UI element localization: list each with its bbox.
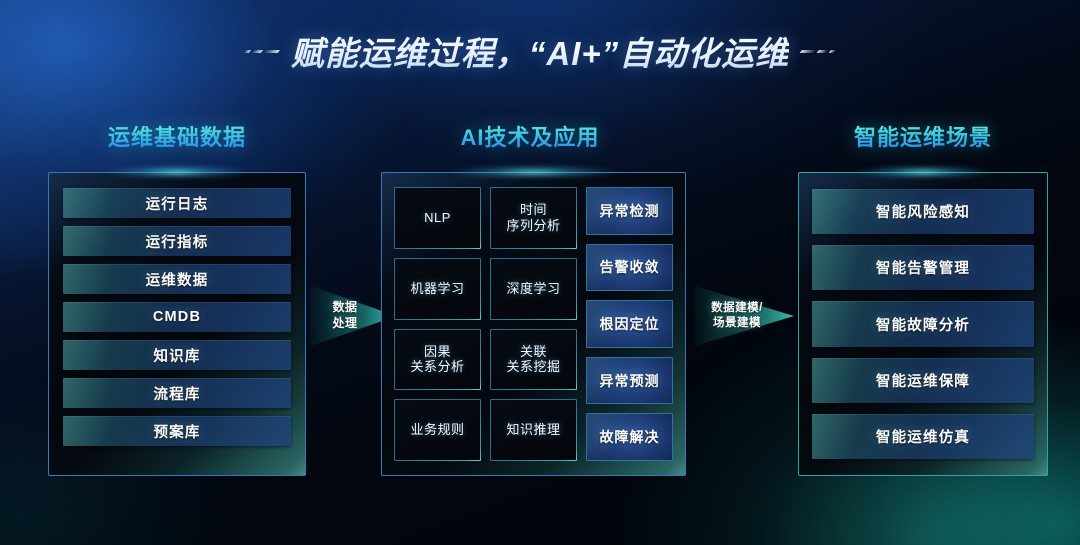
list-item[interactable]: 智能运维保障: [812, 358, 1034, 403]
chip-anomaly-detection[interactable]: 异常检测: [586, 187, 673, 235]
title-left-tick-icon: [245, 50, 279, 53]
list-item[interactable]: CMDB: [63, 302, 291, 332]
tile-label-line2: 关系挖掘: [506, 359, 560, 374]
arrow-connector-data-scene-modeling: 数据建模/ 场景建模: [694, 278, 794, 354]
list-item[interactable]: 预案库: [63, 416, 291, 446]
tile-label-line1: 时间: [520, 202, 547, 217]
connector-label-line2: 处理: [332, 316, 357, 332]
list-item[interactable]: 流程库: [63, 378, 291, 408]
tile-association-mining[interactable]: 关联 关系挖掘: [490, 329, 577, 391]
connector-label-line2: 场景建模: [713, 316, 761, 331]
list-item[interactable]: 智能故障分析: [812, 301, 1034, 346]
chip-fault-resolution[interactable]: 故障解决: [586, 413, 673, 461]
tile-time-series-analysis[interactable]: 时间 序列分析: [490, 187, 577, 249]
ai-application-chip-list: 异常检测 告警收敛 根因定位 异常预测 故障解决: [586, 187, 673, 461]
connector-label-line1: 数据建模/: [711, 301, 763, 316]
list-item[interactable]: 智能告警管理: [812, 245, 1034, 290]
tile-causal-relation-analysis[interactable]: 因果 关系分析: [394, 329, 481, 391]
tile-nlp[interactable]: NLP: [394, 187, 481, 249]
list-item[interactable]: 运维数据: [63, 264, 291, 294]
slide-title-bar: 赋能运维过程，“AI+”自动化运维: [0, 27, 1080, 75]
panel-aiops-scenarios: 智能风险感知 智能告警管理 智能故障分析 智能运维保障 智能运维仿真: [798, 172, 1048, 476]
tile-label-line1: 关联: [520, 344, 547, 359]
aiops-scenario-list: 智能风险感知 智能告警管理 智能故障分析 智能运维保障 智能运维仿真: [799, 173, 1047, 475]
tile-knowledge-reasoning[interactable]: 知识推理: [490, 399, 577, 461]
column-header-left: 运维基础数据: [48, 120, 306, 152]
tile-label: 机器学习: [410, 281, 464, 297]
tile-business-rules[interactable]: 业务规则: [394, 399, 481, 461]
tile-label-line2: 关系分析: [410, 359, 464, 374]
panel-ai-tech-apps: NLP 时间 序列分析 机器学习 深度学习: [381, 172, 686, 476]
tile-machine-learning[interactable]: 机器学习: [394, 258, 481, 320]
tile-label: 深度学习: [506, 281, 560, 297]
ai-tech-tile-grid: NLP 时间 序列分析 机器学习 深度学习: [394, 187, 577, 461]
column-header-middle: AI技术及应用: [380, 120, 680, 152]
tile-label-line2: 序列分析: [506, 218, 560, 233]
connector-label-line1: 数据: [332, 300, 357, 316]
page-title: 赋能运维过程，“AI+”自动化运维: [291, 27, 789, 75]
chip-root-cause-location[interactable]: 根因定位: [586, 300, 673, 348]
list-item[interactable]: 知识库: [63, 340, 291, 370]
tile-label: 知识推理: [506, 422, 560, 438]
chip-anomaly-prediction[interactable]: 异常预测: [586, 357, 673, 405]
chip-alarm-convergence[interactable]: 告警收敛: [586, 244, 673, 292]
list-item[interactable]: 运行指标: [63, 226, 291, 256]
ops-base-data-list: 运行日志 运行指标 运维数据 CMDB 知识库 流程库 预案库: [49, 173, 305, 461]
list-item[interactable]: 智能风险感知: [812, 189, 1034, 234]
tile-label-line1: 因果: [424, 344, 451, 359]
title-right-tick-icon: [801, 50, 835, 53]
slide-canvas: 赋能运维过程，“AI+”自动化运维 运维基础数据 AI技术及应用 智能运维场景 …: [0, 0, 1080, 545]
tile-label: NLP: [424, 210, 451, 226]
list-item[interactable]: 运行日志: [63, 188, 291, 218]
tile-label: 业务规则: [410, 422, 464, 438]
panel-ops-base-data: 运行日志 运行指标 运维数据 CMDB 知识库 流程库 预案库: [48, 172, 306, 476]
list-item[interactable]: 智能运维仿真: [812, 414, 1034, 459]
column-header-right: 智能运维场景: [798, 120, 1048, 152]
tile-deep-learning[interactable]: 深度学习: [490, 258, 577, 320]
